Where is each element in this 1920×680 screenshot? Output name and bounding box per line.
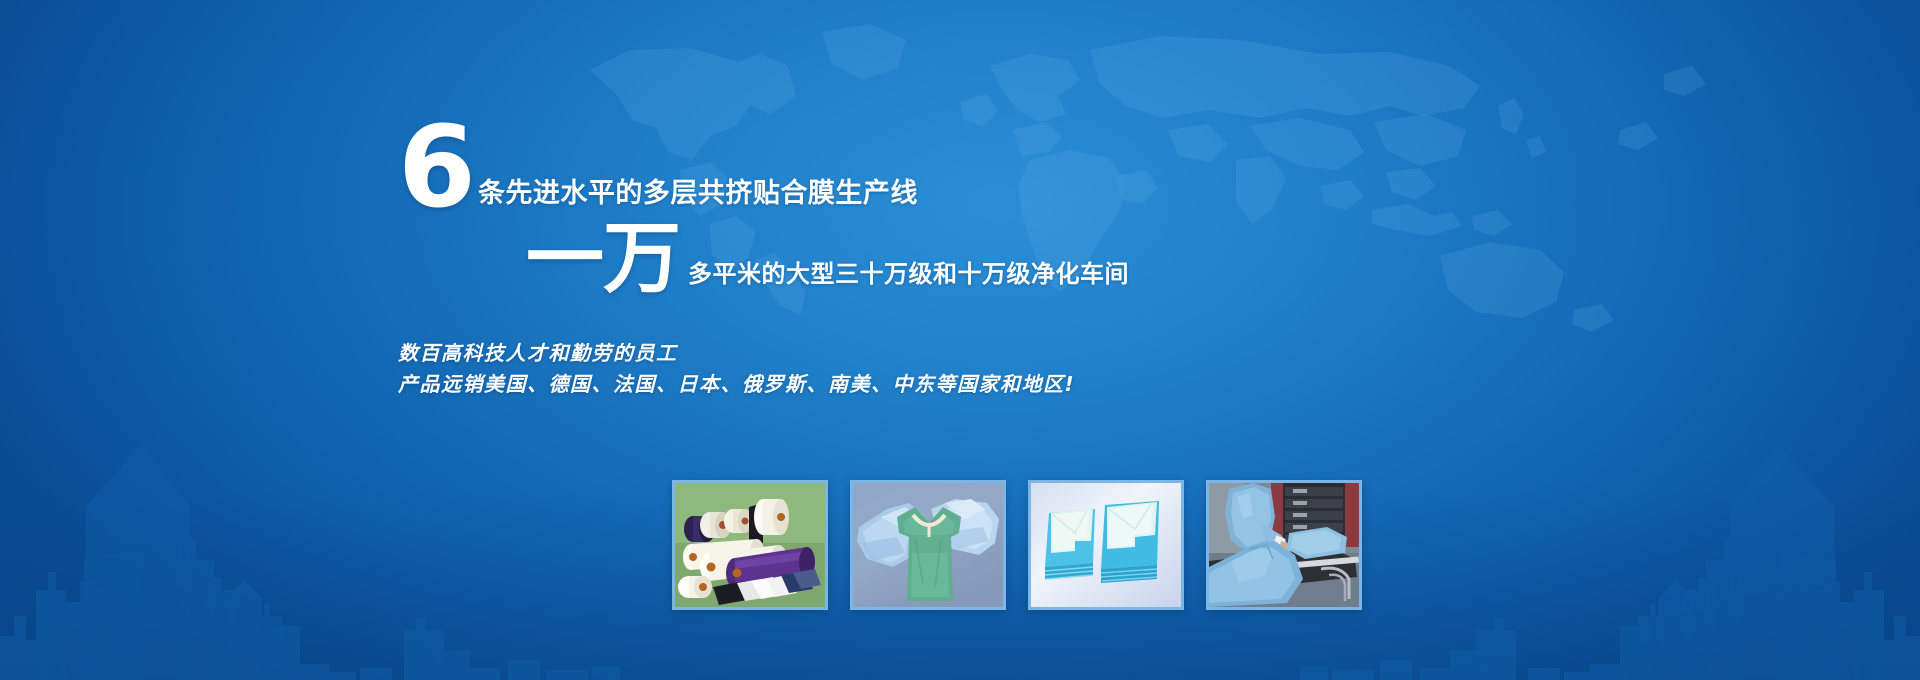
thumbnail-surgical-gowns[interactable] xyxy=(850,480,1006,610)
city-skyline-silhouette-left xyxy=(0,430,620,680)
headline-2-number: 一万 xyxy=(526,220,680,298)
thumbnail-operating-room-drape[interactable] xyxy=(1206,480,1362,610)
thumbnail-surgical-drapes-stack[interactable] xyxy=(1028,480,1184,610)
city-skyline-silhouette-right xyxy=(1300,430,1920,680)
headline-copy-block: 6 条先进水平的多层共挤贴合膜生产线 一万 多平米的大型三十万级和十万级净化车间… xyxy=(398,120,1218,400)
headline-line-2: 一万 多平米的大型三十万级和十万级净化车间 xyxy=(398,220,1218,298)
promo-banner: 6 条先进水平的多层共挤贴合膜生产线 一万 多平米的大型三十万级和十万级净化车间… xyxy=(0,0,1920,680)
product-thumbnail-strip xyxy=(672,480,1362,610)
subtext-block: 数百高科技人才和勤劳的员工 产品远销美国、德国、法国、日本、俄罗斯、南美、中东等… xyxy=(398,338,1218,400)
subtext-line-1: 数百高科技人才和勤劳的员工 xyxy=(398,338,1218,369)
headline-line-1: 6 条先进水平的多层共挤贴合膜生产线 xyxy=(398,120,1218,212)
subtext-line-2: 产品远销美国、德国、法国、日本、俄罗斯、南美、中东等国家和地区! xyxy=(398,369,1218,400)
thumbnail-plastic-film-rolls[interactable] xyxy=(672,480,828,610)
headline-2-text: 多平米的大型三十万级和十万级净化车间 xyxy=(688,254,1129,289)
headline-1-text: 条先进水平的多层共挤贴合膜生产线 xyxy=(478,171,918,210)
headline-1-number: 6 xyxy=(398,120,474,216)
